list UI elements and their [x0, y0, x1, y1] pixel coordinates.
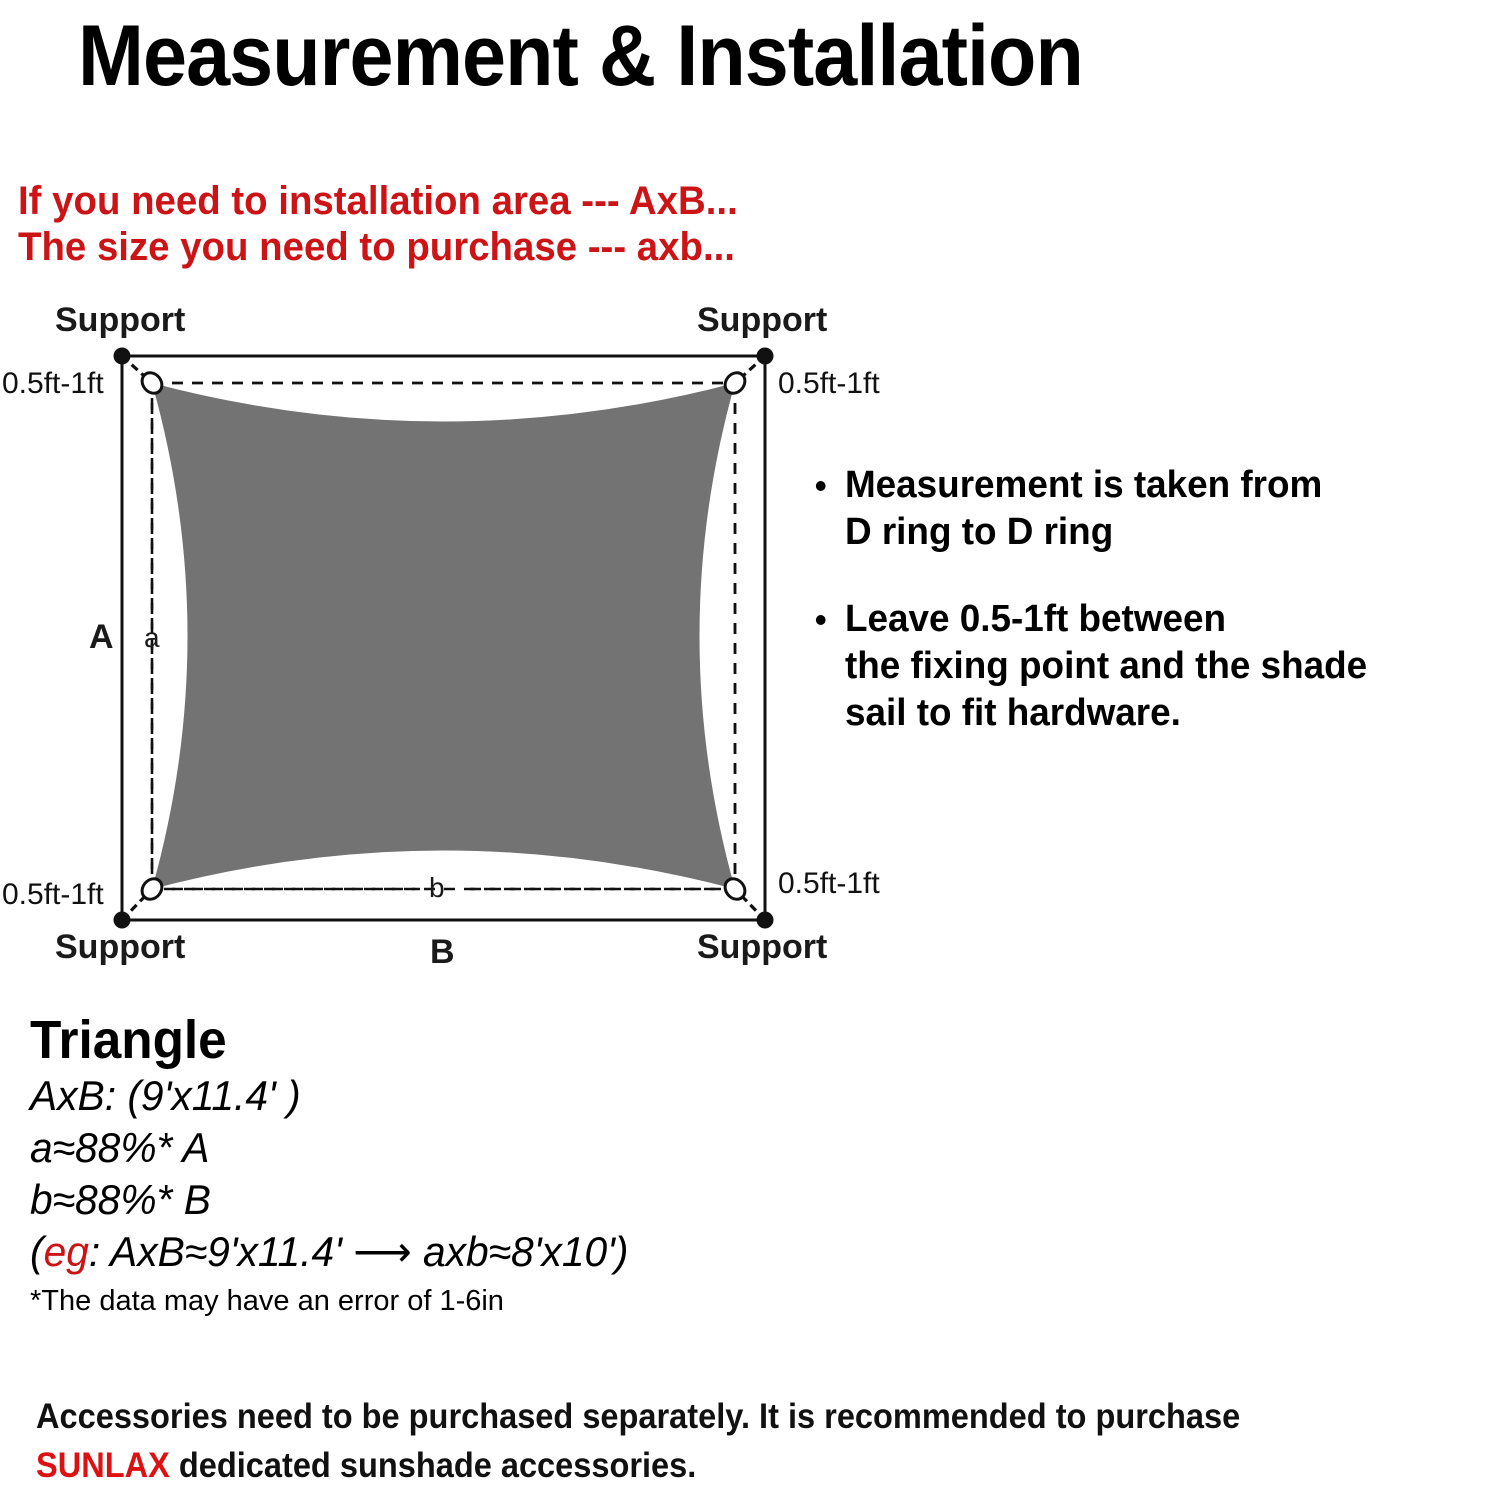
triangle-heading: Triangle [30, 1010, 790, 1070]
bullet-2-line-1: Leave 0.5-1ft between [845, 596, 1472, 643]
label-gap-bottom-left: 0.5ft-1ft [2, 879, 104, 911]
bullet-dot-icon [816, 481, 826, 491]
support-point-top-left [114, 348, 131, 365]
triangle-sizing-block: Triangle AxB: (9'x11.4' ) a≈88%* A b≈88%… [30, 1010, 830, 1320]
accessories-footer: Accessories need to be purchased separat… [36, 1392, 1496, 1490]
triangle-line-2: a≈88%* A [30, 1122, 806, 1174]
triangle-error-note: *The data may have an error of 1-6in [30, 1282, 830, 1320]
label-gap-bottom-right: 0.5ft-1ft [778, 868, 880, 900]
shade-sail-diagram: Support Support Support Support 0.5ft-1f… [0, 290, 900, 990]
footer-line-2: SUNLAX dedicated sunshade accessories. [36, 1441, 1394, 1490]
bullet-2-line-2: the fixing point and the shade [845, 643, 1472, 690]
label-support-top-left: Support [55, 302, 185, 338]
shade-sail-drawing [0, 290, 900, 990]
triangle-line-1: AxB: (9'x11.4' ) [30, 1070, 806, 1122]
bullet-dot-icon [816, 615, 826, 625]
list-item: Leave 0.5-1ft between the fixing point a… [812, 596, 1472, 737]
bullet-1-line-2: D ring to D ring [845, 509, 1472, 556]
label-gap-top-right: 0.5ft-1ft [778, 368, 880, 400]
support-point-top-right [757, 348, 774, 365]
label-side-b: b [429, 873, 445, 903]
label-support-bottom-left: Support [55, 929, 185, 965]
label-side-A: A [89, 619, 114, 655]
label-support-top-right: Support [697, 302, 827, 338]
label-gap-top-left: 0.5ft-1ft [2, 368, 104, 400]
page-title: Measurement & Installation [78, 6, 1366, 106]
footer-line-2-rest: dedicated sunshade accessories. [170, 1446, 696, 1485]
shade-sail-fabric [152, 383, 735, 889]
triangle-line-3: b≈88%* B [30, 1174, 806, 1226]
example-open-paren: ( [30, 1228, 44, 1275]
triangle-example: (eg: AxB≈9'x11.4' ⟶ axb≈8'x10') [30, 1226, 806, 1278]
label-side-a: a [144, 623, 160, 653]
intro-line-2: The size you need to purchase --- axb... [18, 224, 1074, 270]
label-side-B: B [430, 934, 455, 970]
brand-name: SUNLAX [36, 1446, 170, 1485]
example-eg-label: eg [44, 1228, 89, 1275]
support-point-bottom-left [114, 912, 131, 929]
list-item: Measurement is taken from D ring to D ri… [812, 462, 1472, 556]
intro-line-1: If you need to installation area --- AxB… [18, 178, 1074, 224]
instruction-list: Measurement is taken from D ring to D ri… [812, 462, 1492, 777]
support-point-bottom-right [757, 912, 774, 929]
bullet-1-line-1: Measurement is taken from [845, 462, 1472, 509]
label-support-bottom-right: Support [697, 929, 827, 965]
intro-block: If you need to installation area --- AxB… [18, 178, 1118, 270]
bullet-2-line-3: sail to fit hardware. [845, 690, 1472, 737]
footer-line-1: Accessories need to be purchased separat… [36, 1392, 1394, 1441]
example-rest: : AxB≈9'x11.4' ⟶ axb≈8'x10') [89, 1228, 629, 1275]
